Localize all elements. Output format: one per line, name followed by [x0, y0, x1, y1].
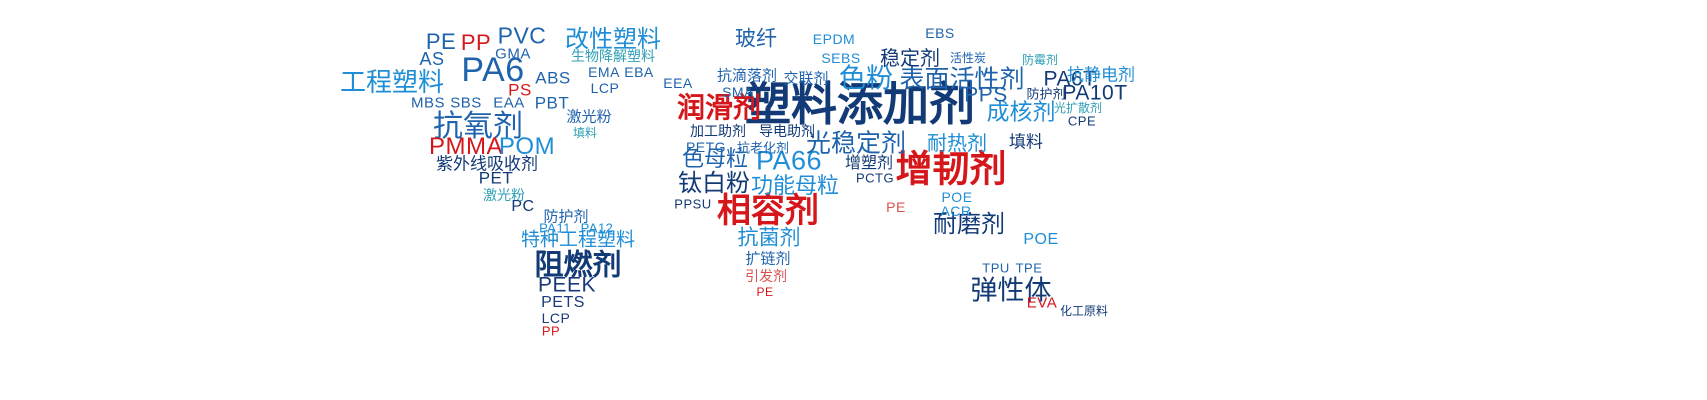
cloud-word[interactable]: PETS [541, 295, 585, 311]
cloud-word[interactable]: PBT [535, 95, 570, 112]
cloud-word[interactable]: 扩链剂 [745, 252, 790, 267]
cloud-word[interactable]: EEA [663, 76, 693, 90]
word-cloud-canvas: 塑料添加剂增韧剂相容剂阻燃剂润滑剂PA6抗氧剂工程塑料PA66色粉表面活性剂光稳… [0, 0, 1707, 400]
cloud-word[interactable]: 稳定剂 [880, 48, 940, 68]
cloud-word[interactable]: 防霉剂 [1022, 54, 1058, 66]
cloud-word[interactable]: POE [1023, 232, 1058, 248]
cloud-word[interactable]: 光稳定剂 [806, 131, 906, 156]
cloud-word[interactable]: MBS [411, 96, 445, 111]
cloud-word[interactable]: CPE [1068, 115, 1096, 128]
cloud-word[interactable]: 光扩散剂 [1054, 102, 1102, 114]
cloud-word[interactable]: PE [886, 200, 906, 214]
cloud-word[interactable]: PA11 [539, 222, 571, 235]
cloud-word[interactable]: 加工助剂 [690, 125, 746, 139]
cloud-word[interactable]: 填料 [1009, 135, 1043, 152]
cloud-word[interactable]: 增韧剂 [896, 151, 1007, 188]
cloud-word[interactable]: PE [756, 286, 773, 298]
cloud-word[interactable]: 化工原料 [1060, 305, 1108, 317]
cloud-word[interactable]: 耐热剂 [927, 133, 987, 153]
cloud-word[interactable]: ABS [535, 70, 571, 87]
cloud-word[interactable]: EBA [624, 65, 654, 79]
cloud-word[interactable]: 改性塑料 [565, 27, 661, 51]
cloud-word[interactable]: PET [479, 170, 514, 187]
cloud-word[interactable]: TPU [982, 262, 1010, 275]
cloud-word[interactable]: SEBS [821, 51, 860, 65]
cloud-word[interactable]: 抗菌剂 [738, 228, 801, 249]
cloud-word[interactable]: 相容剂 [717, 194, 819, 228]
cloud-word[interactable]: ACR [940, 204, 971, 218]
cloud-word[interactable]: 抗老化剂 [737, 143, 789, 156]
cloud-word[interactable]: PC [511, 199, 534, 215]
cloud-word[interactable]: 填料 [573, 127, 597, 139]
cloud-word[interactable]: 增塑剂 [845, 155, 893, 171]
cloud-word[interactable]: 抗滴落剂 [717, 69, 777, 84]
cloud-word[interactable]: PCTG [856, 172, 894, 185]
cloud-word[interactable]: LCP [591, 81, 620, 95]
cloud-word[interactable]: 抗静电剂 [1067, 68, 1135, 85]
cloud-word[interactable]: EVA [1027, 296, 1057, 311]
cloud-word[interactable]: PPSU [674, 198, 711, 211]
cloud-word[interactable]: EAA [493, 96, 525, 111]
cloud-word[interactable]: AS [419, 50, 444, 68]
cloud-word[interactable]: 玻纤 [735, 29, 777, 50]
cloud-word[interactable]: SMA [722, 85, 754, 99]
cloud-word[interactable]: PP [461, 32, 491, 54]
cloud-word[interactable]: 生物降解塑料 [571, 50, 655, 64]
cloud-word[interactable]: 工程塑料 [340, 70, 444, 96]
cloud-word[interactable]: 功能母粒 [751, 176, 839, 198]
cloud-word[interactable]: 活性炭 [950, 52, 986, 64]
cloud-word[interactable]: 引发剂 [745, 270, 787, 284]
cloud-word[interactable]: SBS [450, 96, 482, 111]
cloud-word[interactable]: 钛白粉 [678, 171, 750, 195]
cloud-word[interactable]: PETG [686, 140, 726, 154]
cloud-word[interactable]: TPE [1016, 262, 1043, 275]
cloud-word[interactable]: PEEK [538, 275, 596, 296]
cloud-word[interactable]: 防护剂 [1026, 89, 1065, 102]
cloud-word[interactable]: PPS [964, 85, 1008, 106]
cloud-word[interactable]: PA12 [581, 222, 614, 235]
cloud-word[interactable]: 导电助剂 [759, 125, 815, 139]
cloud-word[interactable]: EMA [588, 65, 620, 79]
cloud-word[interactable]: EPDM [813, 32, 855, 46]
cloud-word[interactable]: PVC [498, 25, 547, 48]
cloud-word[interactable]: 交联剂 [783, 72, 828, 87]
cloud-word[interactable]: POE [941, 190, 972, 204]
cloud-word[interactable]: EBS [925, 26, 955, 40]
cloud-word[interactable]: PP [542, 325, 560, 338]
cloud-word[interactable]: GMA [495, 47, 531, 62]
cloud-word[interactable]: 激光粉 [566, 110, 611, 125]
